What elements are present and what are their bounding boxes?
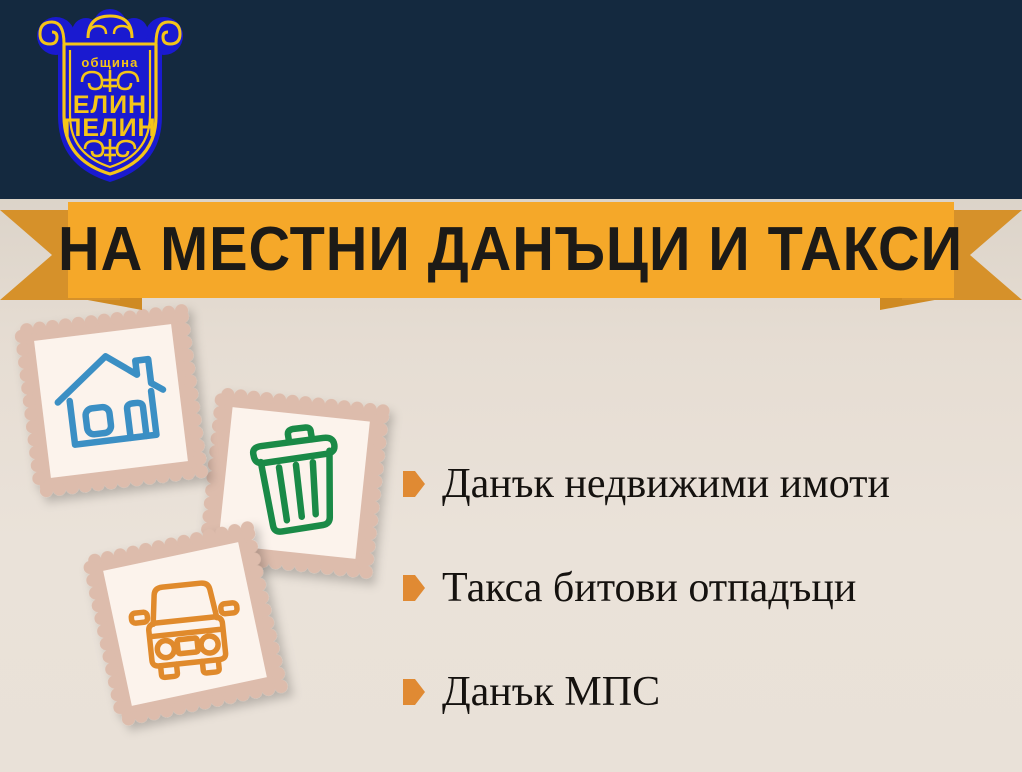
arrow-bullet-icon: [403, 575, 425, 601]
list-item: Данък недвижими имоти: [403, 432, 1015, 536]
stamp-frame-car: [81, 520, 289, 728]
tax-type-list: Данък недвижими имоти Такса битови отпад…: [403, 432, 1015, 744]
stamp-frame-house: [13, 303, 208, 498]
ribbon-panel: НА МЕСТНИ ДАНЪЦИ И ТАКСИ: [68, 202, 954, 298]
poster-canvas: ПРОВЕРКА И ПЛАЩАНЕ НА ЗАДЪЛЖЕНИЯ: [0, 0, 1022, 772]
list-item: Такса битови отпадъци: [403, 536, 1015, 640]
stamp-card-car: [79, 518, 290, 729]
municipality-logo: община ЕЛИН ПЕЛИН: [30, 8, 190, 188]
ribbon-label: НА МЕСТНИ ДАНЪЦИ И ТАКСИ: [59, 219, 964, 281]
arrow-bullet-icon: [403, 471, 425, 497]
svg-text:ПЕЛИН: ПЕЛИН: [63, 114, 156, 142]
arrow-bullet-icon: [403, 679, 425, 705]
list-item-label: Такса битови отпадъци: [442, 565, 856, 611]
list-item-label: Данък МПС: [442, 669, 660, 715]
list-item: Данък МПС: [403, 640, 1015, 744]
ribbon-banner: НА МЕСТНИ ДАНЪЦИ И ТАКСИ: [0, 196, 1022, 308]
svg-text:община: община: [81, 55, 138, 70]
list-item-label: Данък недвижими имоти: [442, 461, 890, 507]
stamp-card-house: [12, 302, 210, 500]
coat-of-arms-icon: община ЕЛИН ПЕЛИН: [30, 8, 190, 188]
